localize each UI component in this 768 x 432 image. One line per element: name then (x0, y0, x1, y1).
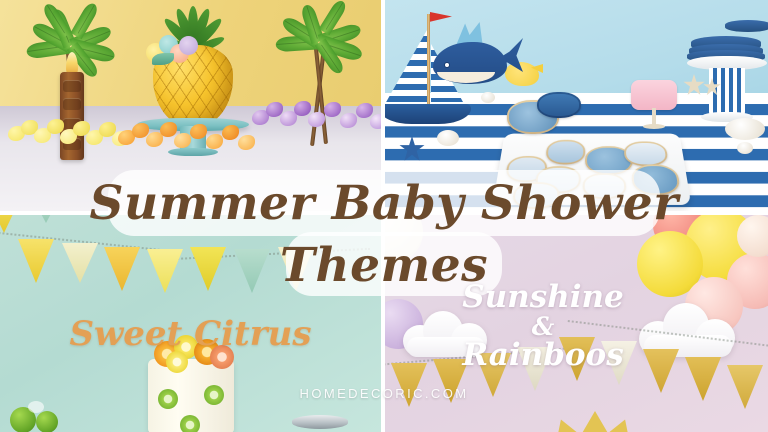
jar-lid (292, 415, 348, 429)
boat-hull (385, 104, 471, 124)
theme-label-sunshine-rainbows: Sunshine & Rainboos (418, 282, 668, 371)
theme-label-sunshine-line-1: Sunshine (462, 279, 624, 315)
tiki-carving (63, 98, 81, 110)
seashell-decoration (437, 130, 459, 146)
theme-label-ampersand: & (418, 314, 668, 339)
site-watermark: HOMEDECORIC.COM (0, 386, 768, 401)
glass-decoration (28, 401, 44, 413)
lime-slice-decoration (180, 415, 200, 432)
lei-petal (160, 122, 177, 137)
name-sign-decoration (631, 80, 677, 130)
tiki-carving (63, 80, 81, 92)
blue-plate (725, 20, 768, 32)
boat-flag (430, 12, 452, 26)
decorated-cookie (623, 141, 668, 166)
lei-petal (324, 102, 341, 117)
page-title-line-1: Summer Baby Shower (0, 176, 768, 232)
tropical-leaf (152, 53, 174, 65)
boat-sail (385, 30, 427, 104)
decorated-cookie (537, 92, 581, 118)
lime-fruit (36, 411, 58, 432)
lemon-slice (166, 351, 188, 373)
lei-petal (190, 124, 207, 139)
lei-petal (294, 101, 311, 116)
lei-petal (206, 134, 223, 149)
seashell-decoration (481, 92, 495, 103)
theme-label-sweet-citrus: Sweet Citrus (0, 314, 381, 354)
lime-decoration-group-left (6, 401, 76, 432)
lei-petal (308, 112, 325, 127)
pineapple-flower-cluster (146, 33, 198, 67)
decorated-cookie (545, 140, 585, 165)
whale-cutout (425, 34, 519, 84)
sign-card (631, 80, 677, 110)
lei-petal (370, 114, 381, 129)
purple-lei (252, 98, 381, 132)
lei-petal (356, 103, 373, 118)
pinterest-graphic: Summer Baby Shower Themes Sweet Citrus S… (0, 0, 768, 432)
sign-base (643, 124, 665, 129)
tropical-flower (179, 36, 198, 55)
lei-petal (222, 125, 239, 140)
seashell-decoration (737, 142, 753, 154)
lei-petal (174, 133, 191, 148)
lei-petal (340, 113, 357, 128)
whale-eye (444, 62, 450, 68)
theme-label-sunshine-line-2: Rainboos (418, 340, 668, 371)
orange-lei (118, 120, 260, 154)
seashell-decoration (725, 118, 765, 140)
